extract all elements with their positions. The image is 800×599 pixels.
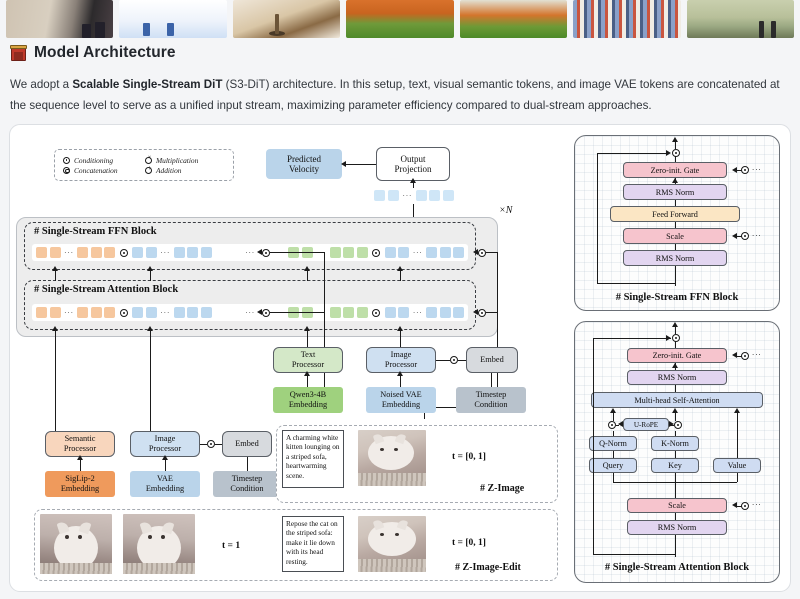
node-line-2: Condition <box>474 400 507 410</box>
node-line-2: Processor <box>149 444 181 454</box>
node-line-1: Image <box>391 350 412 360</box>
attn-gate-cond-dots: ... <box>752 348 762 357</box>
legend-label: Conditioning <box>74 156 113 165</box>
concatenation-symbol-icon <box>63 167 70 174</box>
z-image-edit-panel-label: # Z-Image-Edit <box>455 562 521 573</box>
node-line-2: Embedding <box>382 400 420 410</box>
ffn-token-row: ··· ··· ··· ··· ··· <box>32 244 468 261</box>
image-strip-thumb-4 <box>346 0 453 38</box>
concat-symbol-icon <box>120 309 128 317</box>
intro-paragraph: We adopt a Scalable Single-Stream DiT (S… <box>10 74 788 116</box>
embed-cond-circle <box>450 356 458 364</box>
legend-item-addition: Addition <box>145 166 227 175</box>
timestep-condition-node: Timestep Condition <box>456 387 526 413</box>
node-line-1: Timestep <box>476 390 507 400</box>
node-line-1: Predicted <box>287 154 321 164</box>
edit-source-photo-1 <box>40 514 112 574</box>
para-bold: Scalable Single-Stream DiT <box>72 78 222 91</box>
ffn-gate-cond-dots: ... <box>752 163 762 172</box>
attn-zero-init-gate-box: Zero-init. Gate <box>627 348 727 363</box>
image-processor-node: Image Processor <box>366 347 436 373</box>
attn-rms-norm-bottom-box: RMS Norm <box>627 520 727 535</box>
image-strip <box>0 0 800 38</box>
node-line-1: SigLip-2 <box>65 474 95 484</box>
value-box: Value <box>713 458 761 473</box>
section-heading: Model Architecture <box>10 44 176 62</box>
conditioning-symbol-icon <box>63 157 70 164</box>
image-strip-thumb-6 <box>573 0 680 38</box>
ffn-scale-cond-circle <box>741 232 749 240</box>
node-line-2: Processor <box>64 444 96 454</box>
image-strip-thumb-1 <box>6 0 113 38</box>
attention-panel-title: # Single-Stream Attention Block <box>575 562 779 573</box>
node-line-1: VAE <box>157 474 173 484</box>
ffn-scale-box: Scale <box>623 228 727 244</box>
node-line-1: Noised VAE <box>380 390 421 400</box>
attn-residual-add-circle <box>672 334 680 342</box>
edit-source-photo-2 <box>123 514 195 574</box>
attn-scale-cond-circle <box>741 502 749 510</box>
image-strip-thumb-2 <box>119 0 226 38</box>
predicted-velocity-node: Predicted Velocity <box>266 149 342 179</box>
noised-vae-embedding-node: Noised VAE Embedding <box>366 387 436 413</box>
legend-label: Concatenation <box>74 166 118 175</box>
attn-scale-box: Scale <box>627 498 727 513</box>
node-line-2: Embedding <box>61 484 99 494</box>
attn-cond-circle-right <box>478 309 486 317</box>
z-image-output-photo <box>358 430 426 486</box>
node-line-2: Processor <box>292 360 324 370</box>
repeat-count-label: ×N <box>499 205 512 216</box>
diagram-legend: Conditioning Multiplication Concatenatio… <box>54 149 234 181</box>
para-part1: We adopt a <box>10 78 72 91</box>
node-line-2: Processor <box>385 360 417 370</box>
z-image-prompt: A charming white kitten lounging on a st… <box>282 430 344 488</box>
ffn-panel-title: # Single-Stream FFN Block <box>575 292 779 303</box>
output-projection-node: Output Projection <box>376 147 450 181</box>
node-line-2: Velocity <box>289 164 319 174</box>
node-line-1: Embed <box>235 439 259 449</box>
output-token-row: ··· <box>382 187 446 204</box>
node-line-1: Qwen3-4B <box>290 390 326 400</box>
legend-item-concatenation: Concatenation <box>63 166 145 175</box>
ffn-rms-norm-top-box: RMS Norm <box>623 184 727 200</box>
page-root: Model Architecture We adopt a Scalable S… <box>0 0 800 599</box>
shrine-icon <box>10 44 27 62</box>
concat-symbol-icon <box>372 309 380 317</box>
architecture-figure-card: Conditioning Multiplication Concatenatio… <box>9 124 791 592</box>
image-strip-thumb-3 <box>233 0 340 38</box>
node-line-2: Condition <box>230 484 263 494</box>
siglip-embedding-node: SigLip-2 Embedding <box>45 471 115 497</box>
edit-output-photo <box>358 516 426 572</box>
ffn-zero-init-gate-box: Zero-init. Gate <box>623 162 727 178</box>
attn-cond-circle-left <box>262 309 270 317</box>
node-line-1: Timestep <box>232 474 263 484</box>
attention-token-row: ··· ··· ··· ··· ··· <box>32 304 468 321</box>
legend-label: Multiplication <box>156 156 198 165</box>
edit-t-source: t = 1 <box>222 541 240 551</box>
ffn-feed-forward-box: Feed Forward <box>610 206 740 222</box>
k-norm-box: K-Norm <box>651 436 699 451</box>
legend-item-multiplication: Multiplication <box>145 156 227 165</box>
timestep-condition-node-2: Timestep Condition <box>213 471 281 497</box>
ffn-gate-cond-circle <box>741 166 749 174</box>
main-diagram: Conditioning Multiplication Concatenatio… <box>10 125 566 593</box>
node-line-2: Embedding <box>289 400 327 410</box>
image-strip-thumb-5 <box>460 0 567 38</box>
ffn-residual-add-circle <box>672 149 680 157</box>
concat-symbol-icon <box>372 249 380 257</box>
text-processor-node: Text Processor <box>273 347 343 373</box>
attn-gate-cond-circle <box>741 352 749 360</box>
embed-node-2: Embed <box>222 431 272 457</box>
attention-detail-panel: Zero-init. Gate RMS Norm Multi-head Self… <box>574 321 780 583</box>
node-line-1: Text <box>301 350 316 360</box>
node-line-2: Embedding <box>146 484 184 494</box>
ffn-cond-circle-left <box>262 249 270 257</box>
u-rope-box: U-RoPE <box>623 418 669 431</box>
ffn-rms-norm-bottom-box: RMS Norm <box>623 250 727 266</box>
concat-symbol-icon <box>120 249 128 257</box>
image-strip-thumb-7 <box>687 0 794 38</box>
vae-embedding-node: VAE Embedding <box>130 471 200 497</box>
node-line-1: Image <box>155 434 176 444</box>
attn-rms-norm-top-box: RMS Norm <box>627 370 727 385</box>
ffn-cond-circle-right <box>478 249 486 257</box>
z-image-panel-label: # Z-Image <box>480 483 524 494</box>
key-box: Key <box>651 458 699 473</box>
addition-symbol-icon <box>145 167 152 174</box>
image-processor-node-2: Image Processor <box>130 431 200 457</box>
node-line-1: Semantic <box>65 434 96 444</box>
z-image-t-value: t = [0, 1] <box>452 452 486 462</box>
embed-node: Embed <box>466 347 518 373</box>
ffn-scale-cond-dots: ... <box>752 229 762 238</box>
node-line-1: Output <box>400 154 425 164</box>
attention-block-label: # Single-Stream Attention Block <box>34 284 178 295</box>
edit-t-value: t = [0, 1] <box>452 538 486 548</box>
multi-head-self-attention-box: Multi-head Self-Attention <box>591 392 763 408</box>
page-title: Model Architecture <box>34 44 176 62</box>
multiplication-symbol-icon <box>145 157 152 164</box>
legend-label: Addition <box>156 166 181 175</box>
node-line-2: Projection <box>395 164 432 174</box>
ffn-detail-panel: Zero-init. Gate RMS Norm Feed Forward Sc… <box>574 135 780 311</box>
k-rope-circle <box>674 421 682 429</box>
q-rope-circle <box>608 421 616 429</box>
q-norm-box: Q-Norm <box>589 436 637 451</box>
query-box: Query <box>589 458 637 473</box>
semantic-processor-node: Semantic Processor <box>45 431 115 457</box>
node-line-1: Embed <box>480 355 504 365</box>
edit-prompt: Repose the cat on the striped sofa: make… <box>282 516 344 572</box>
ffn-block-label: # Single-Stream FFN Block <box>34 226 157 237</box>
embed-cond-circle-2 <box>207 440 215 448</box>
legend-item-conditioning: Conditioning <box>63 156 145 165</box>
attn-scale-cond-dots: ... <box>752 498 762 507</box>
qwen-embedding-node: Qwen3-4B Embedding <box>273 387 343 413</box>
